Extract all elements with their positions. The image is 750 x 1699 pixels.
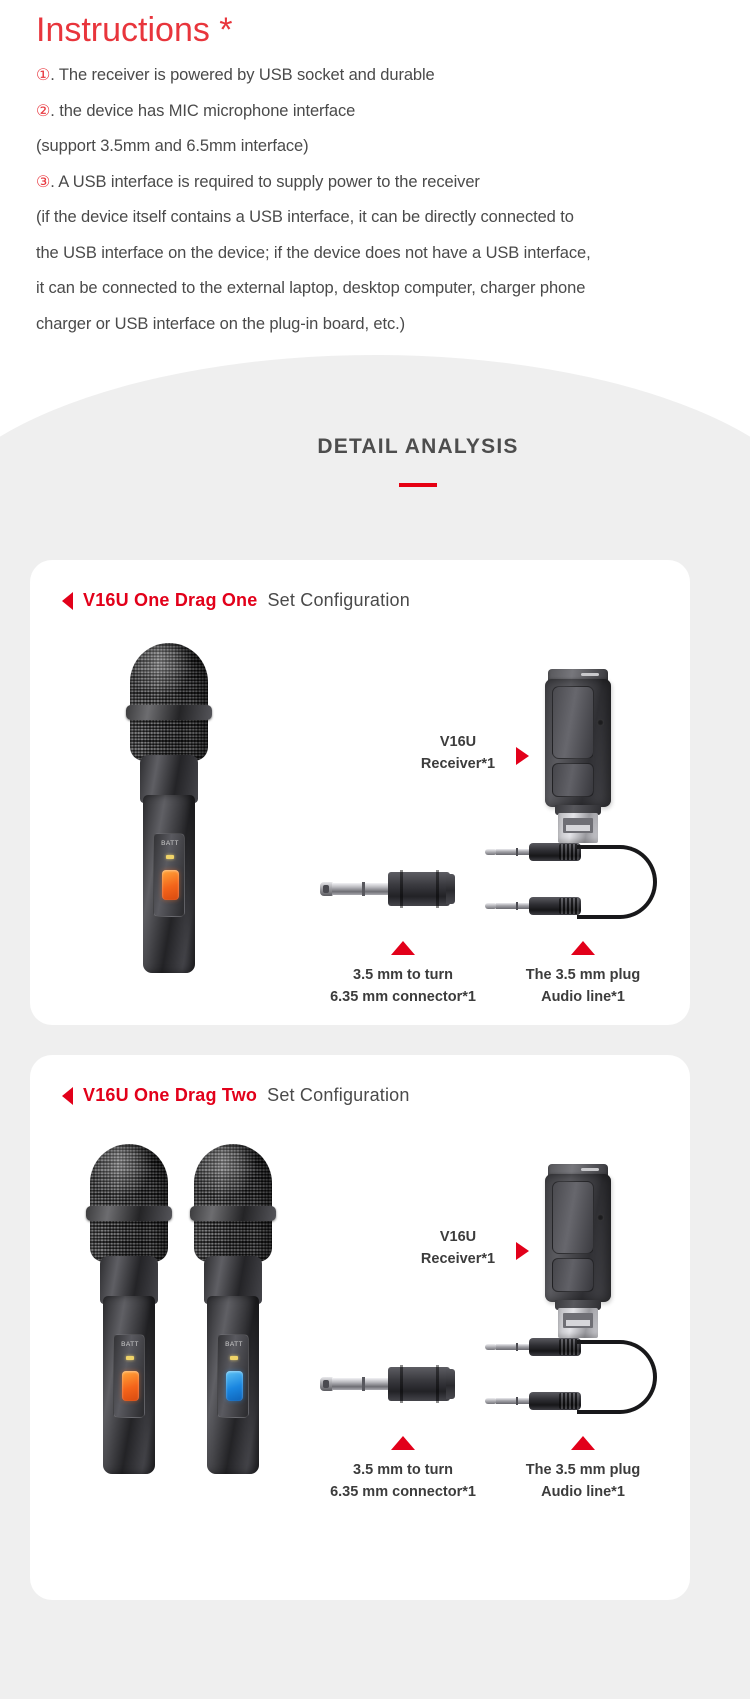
card-title-model: V16U One Drag Two bbox=[83, 1085, 257, 1106]
card-title-suffix: Set Configuration bbox=[267, 590, 410, 611]
adapter-end-cap bbox=[446, 874, 455, 904]
audioline-caption: The 3.5 mm plug Audio line*1 bbox=[498, 964, 668, 1008]
audioline-caption: The 3.5 mm plug Audio line*1 bbox=[498, 1459, 668, 1503]
page-title: Instructions * bbox=[36, 8, 714, 52]
mic-battery-led-icon bbox=[126, 1356, 134, 1360]
instruction-line-4: ③. A USB interface is required to supply… bbox=[36, 165, 714, 201]
plug-shaft bbox=[496, 849, 530, 855]
usb-connector bbox=[558, 813, 598, 843]
triangle-right-icon bbox=[516, 747, 529, 765]
section-title: DETAIL ANALYSIS bbox=[86, 435, 750, 459]
adapter-ring bbox=[362, 1377, 365, 1391]
triangle-left-icon bbox=[62, 1087, 73, 1105]
receiver-shell bbox=[545, 1174, 611, 1302]
configuration-card-one-drag-two: V16U One Drag Two Set Configuration BATT bbox=[30, 1055, 690, 1600]
instruction-line-7: it can be connected to the external lapt… bbox=[36, 271, 714, 307]
plug-grip bbox=[559, 898, 579, 914]
microphone-illustration-2: BATT bbox=[190, 1144, 276, 1474]
cable-loop bbox=[577, 1340, 657, 1414]
instruction-line-5: (if the device itself contains a USB int… bbox=[36, 200, 714, 236]
instruction-line-1: ①. The receiver is powered by USB socket… bbox=[36, 58, 714, 94]
detail-analysis-header: DETAIL ANALYSIS bbox=[0, 435, 750, 487]
triangle-up-icon-audioline bbox=[571, 941, 595, 955]
adapter-shaft bbox=[332, 883, 390, 895]
receiver-label-line-2: Receiver*1 bbox=[421, 756, 495, 772]
audioline-caption-line-2: Audio line*1 bbox=[541, 1484, 625, 1500]
plug-grip bbox=[559, 1339, 579, 1355]
receiver-lower-face bbox=[552, 763, 594, 797]
list-marker-1: ① bbox=[36, 67, 50, 84]
instruction-line-8: charger or USB interface on the plug-in … bbox=[36, 307, 714, 343]
cable-loop bbox=[577, 845, 657, 919]
plug-grip bbox=[559, 1393, 579, 1409]
receiver-indicator-dot bbox=[597, 719, 604, 726]
mic-power-button bbox=[226, 1371, 243, 1401]
mic-body: BATT bbox=[103, 1296, 155, 1474]
list-marker-2: ② bbox=[36, 103, 50, 120]
adapter-caption: 3.5 mm to turn 6.35 mm connector*1 bbox=[313, 1459, 493, 1503]
usb-receiver-illustration bbox=[545, 1164, 611, 1344]
mic-collar-ring bbox=[126, 705, 212, 720]
usb-connector-inner bbox=[563, 1313, 593, 1328]
instruction-line-2: ②. the device has MIC microphone interfa… bbox=[36, 94, 714, 130]
mic-batt-label: BATT bbox=[154, 840, 186, 847]
adapter-caption: 3.5 mm to turn 6.35 mm connector*1 bbox=[313, 964, 493, 1008]
mic-batt-label: BATT bbox=[218, 1341, 250, 1348]
mic-power-button bbox=[162, 870, 179, 900]
triangle-up-icon-audioline bbox=[571, 1436, 595, 1450]
adapter-caption-line-1: 3.5 mm to turn bbox=[353, 967, 453, 983]
receiver-label-line-1: V16U bbox=[440, 734, 476, 750]
mic-body: BATT bbox=[207, 1296, 259, 1474]
mic-collar-ring bbox=[86, 1206, 172, 1221]
mic-grille-head bbox=[194, 1144, 272, 1262]
receiver-front-face bbox=[552, 1181, 594, 1254]
receiver-label-line-1: V16U bbox=[440, 1229, 476, 1245]
receiver-cap-slot bbox=[581, 673, 599, 676]
adapter-caption-line-1: 3.5 mm to turn bbox=[353, 1462, 453, 1478]
audioline-caption-line-1: The 3.5 mm plug bbox=[526, 1462, 640, 1478]
triangle-right-icon bbox=[516, 1242, 529, 1260]
audio-cable-illustration bbox=[485, 1338, 660, 1416]
card-body: BATT V16U Receiver*1 bbox=[30, 611, 690, 1011]
plug-shaft bbox=[496, 1398, 530, 1404]
product-detail-page: Instructions * ①. The receiver is powere… bbox=[0, 0, 750, 1699]
adapter-caption-line-2: 6.35 mm connector*1 bbox=[330, 989, 476, 1005]
receiver-shell bbox=[545, 679, 611, 807]
microphone-illustration: BATT bbox=[126, 643, 212, 973]
adapter-shaft bbox=[332, 1378, 390, 1390]
mic-control-panel: BATT bbox=[217, 1334, 249, 1418]
receiver-label: V16U Receiver*1 bbox=[408, 731, 508, 775]
adapter-caption-line-2: 6.35 mm connector*1 bbox=[330, 1484, 476, 1500]
audio-cable-illustration bbox=[485, 843, 660, 921]
audioline-caption-line-1: The 3.5 mm plug bbox=[526, 967, 640, 983]
usb-receiver-illustration bbox=[545, 669, 611, 849]
title-underline-rule bbox=[399, 483, 437, 487]
card-header: V16U One Drag Two Set Configuration bbox=[30, 1055, 690, 1106]
plug-shaft bbox=[496, 1344, 530, 1350]
plug-grip bbox=[559, 844, 579, 860]
instruction-text-1: . The receiver is powered by USB socket … bbox=[50, 66, 434, 84]
instruction-text-2: . the device has MIC microphone interfac… bbox=[50, 102, 355, 120]
mic-power-button bbox=[122, 1371, 139, 1401]
usb-connector-inner bbox=[563, 818, 593, 833]
receiver-cap-slot bbox=[581, 1168, 599, 1171]
instruction-line-6: the USB interface on the device; if the … bbox=[36, 236, 714, 272]
mic-battery-led-icon bbox=[166, 855, 174, 859]
audioline-caption-line-2: Audio line*1 bbox=[541, 989, 625, 1005]
triangle-up-icon-adapter bbox=[391, 1436, 415, 1450]
audio-adapter-illustration bbox=[320, 869, 480, 909]
card-title-suffix: Set Configuration bbox=[267, 1085, 410, 1106]
receiver-label-line-2: Receiver*1 bbox=[421, 1251, 495, 1267]
mic-control-panel: BATT bbox=[113, 1334, 145, 1418]
card-title-model: V16U One Drag One bbox=[83, 590, 257, 611]
instruction-text-4: . A USB interface is required to supply … bbox=[50, 173, 480, 191]
receiver-label: V16U Receiver*1 bbox=[408, 1226, 508, 1270]
mic-body: BATT bbox=[143, 795, 195, 973]
triangle-up-icon-adapter bbox=[391, 941, 415, 955]
adapter-end-cap bbox=[446, 1369, 455, 1399]
mic-grille-head bbox=[90, 1144, 168, 1262]
mic-batt-label: BATT bbox=[114, 1341, 146, 1348]
receiver-front-face bbox=[552, 686, 594, 759]
receiver-indicator-dot bbox=[597, 1214, 604, 1221]
audio-adapter-illustration bbox=[320, 1364, 480, 1404]
mic-collar-ring bbox=[190, 1206, 276, 1221]
card-header: V16U One Drag One Set Configuration bbox=[30, 560, 690, 611]
mic-battery-led-icon bbox=[230, 1356, 238, 1360]
adapter-barrel bbox=[388, 872, 450, 906]
list-marker-3: ③ bbox=[36, 174, 50, 191]
configuration-card-one-drag-one: V16U One Drag One Set Configuration BATT bbox=[30, 560, 690, 1025]
mic-grille-head bbox=[130, 643, 208, 761]
plug-shaft bbox=[496, 903, 530, 909]
instructions-block: Instructions * ①. The receiver is powere… bbox=[0, 0, 750, 342]
microphone-illustration-1: BATT bbox=[86, 1144, 172, 1474]
triangle-left-icon bbox=[62, 592, 73, 610]
adapter-ring bbox=[362, 882, 365, 896]
usb-connector bbox=[558, 1308, 598, 1338]
card-body: BATT BATT bbox=[30, 1106, 690, 1586]
receiver-lower-face bbox=[552, 1258, 594, 1292]
adapter-barrel bbox=[388, 1367, 450, 1401]
instruction-line-3: (support 3.5mm and 6.5mm interface) bbox=[36, 129, 714, 165]
mic-control-panel: BATT bbox=[153, 833, 185, 917]
